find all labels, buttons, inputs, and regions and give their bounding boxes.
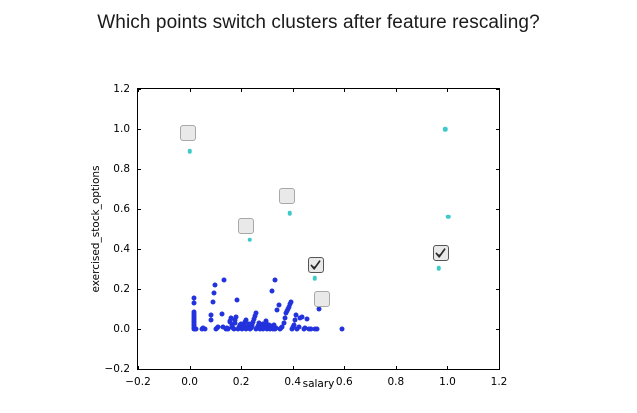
scatter-point	[191, 317, 196, 322]
scatter-point	[294, 313, 299, 318]
scatter-point	[193, 327, 198, 332]
scatter-point	[203, 327, 208, 332]
scatter-point	[279, 326, 284, 331]
scatter-point	[209, 313, 214, 318]
scatter-point	[299, 314, 304, 319]
scatter-point	[219, 312, 224, 317]
x-tick-mark-top	[447, 88, 448, 92]
scatter-point	[316, 307, 321, 312]
scatter-point	[212, 291, 217, 296]
scatter-point	[248, 327, 253, 332]
y-tick-mark-right	[496, 209, 500, 210]
x-tick-mark-top	[396, 88, 397, 92]
scatter-point	[269, 323, 274, 328]
scatter-point	[247, 321, 252, 326]
scatter-point	[239, 327, 244, 332]
x-tick-mark	[447, 366, 448, 370]
y-axis-label: exercised_stock_options	[90, 165, 102, 292]
scatter-point	[259, 323, 264, 328]
y-tick-label: 0.0	[113, 323, 130, 335]
scatter-point	[295, 327, 300, 332]
x-tick-mark-top	[190, 88, 191, 92]
scatter-point	[191, 319, 196, 324]
scatter-point	[252, 314, 257, 319]
scatter-point	[281, 321, 286, 326]
scatter-point	[233, 318, 238, 323]
scatter-point	[270, 327, 275, 332]
scatter-point	[242, 320, 247, 325]
scatter-point	[253, 310, 258, 315]
scatter-point	[191, 296, 196, 301]
scatter-point	[191, 301, 196, 306]
scatter-point	[280, 324, 285, 329]
scatter-point	[270, 289, 275, 294]
scatter-point	[313, 327, 318, 332]
scatter-point	[287, 211, 292, 216]
scatter-point	[212, 283, 217, 288]
y-tick-label: 0.4	[113, 243, 130, 255]
scatter-point	[288, 301, 293, 306]
x-tick-label: 0.0	[181, 376, 198, 388]
y-tick-mark	[137, 329, 141, 330]
scatter-point	[293, 318, 298, 323]
scatter-point	[200, 326, 205, 331]
y-tick-label: 0.2	[113, 283, 130, 295]
scatter-point	[255, 324, 260, 329]
scatter-point	[303, 326, 308, 331]
scatter-point	[223, 326, 228, 331]
x-tick-label: 0.4	[284, 376, 301, 388]
y-tick-label: 1.0	[113, 123, 130, 135]
scatter-point	[238, 323, 243, 328]
scatter-point	[228, 319, 233, 324]
highlight-checkbox-marker[interactable]	[433, 245, 449, 261]
scatter-point	[254, 327, 259, 332]
y-tick-mark	[137, 89, 141, 90]
highlight-square-marker[interactable]	[238, 218, 254, 234]
y-tick-mark-right	[496, 289, 500, 290]
scatter-point	[245, 324, 250, 329]
scatter-point	[286, 307, 291, 312]
scatter-point	[290, 327, 295, 332]
scatter-point	[272, 323, 277, 328]
plot-area: −0.20.00.20.40.60.81.01.2 −0.20.00.20.40…	[137, 88, 500, 370]
scatter-point	[240, 325, 245, 330]
scatter-point	[233, 314, 238, 319]
scatter-point	[262, 323, 267, 328]
scatter-point	[264, 327, 269, 332]
scatter-point	[191, 321, 196, 326]
scatter-point	[221, 278, 226, 283]
scatter-point	[265, 325, 270, 330]
scatter-point	[229, 323, 234, 328]
scatter-point	[249, 324, 254, 329]
scatter-point	[250, 322, 255, 327]
scatter-point	[191, 325, 196, 330]
scatter-point	[248, 325, 253, 330]
scatter-point	[296, 325, 301, 330]
scatter-point	[244, 327, 249, 332]
scatter-point	[260, 321, 265, 326]
scatter-point	[191, 327, 196, 332]
scatter-point	[248, 238, 253, 243]
x-tick-mark	[344, 366, 345, 370]
scatter-point	[257, 321, 262, 326]
x-tick-mark-top	[241, 88, 242, 92]
scatter-point	[275, 308, 280, 313]
x-tick-label: 0.8	[387, 376, 404, 388]
y-tick-label: 0.8	[113, 163, 130, 175]
scatter-point	[256, 322, 261, 327]
scatter-point	[261, 327, 266, 332]
scatter-point	[191, 323, 196, 328]
scatter-point	[298, 316, 303, 321]
scatter-point	[234, 298, 239, 303]
scatter-point	[241, 322, 246, 327]
scatter-point	[251, 320, 256, 325]
y-tick-mark-right	[496, 129, 500, 130]
scatter-point	[191, 309, 196, 314]
scatter-point	[289, 300, 294, 305]
y-tick-mark-right	[496, 89, 500, 90]
scatter-point	[282, 316, 287, 321]
scatter-point	[268, 327, 273, 332]
y-tick-mark-right	[496, 329, 500, 330]
scatter-point	[191, 320, 196, 325]
scatter-point	[210, 300, 215, 305]
y-tick-mark	[137, 129, 141, 130]
scatter-point	[232, 321, 237, 326]
highlight-checkbox-marker[interactable]	[308, 257, 324, 273]
y-tick-mark	[137, 249, 141, 250]
scatter-point	[268, 325, 273, 330]
scatter-point	[245, 326, 250, 331]
scatter-point	[226, 327, 231, 332]
scatter-point	[199, 327, 204, 332]
page-title: Which points switch clusters after featu…	[0, 12, 637, 34]
scatter-point	[191, 315, 196, 320]
x-tick-label: 0.2	[233, 376, 250, 388]
scatter-point	[274, 325, 279, 330]
scatter-point	[312, 276, 317, 281]
y-tick-mark-right	[496, 369, 500, 370]
scatter-point	[264, 318, 269, 323]
highlight-square-marker[interactable]	[314, 291, 330, 307]
scatter-point	[238, 321, 243, 326]
scatter-point	[236, 326, 241, 331]
scatter-point	[243, 318, 248, 323]
scatter-point	[284, 311, 289, 316]
scatter-point	[213, 327, 218, 332]
scatter-point	[292, 323, 297, 328]
x-tick-label: 1.0	[439, 376, 456, 388]
scatter-point	[216, 325, 221, 330]
scatter-point	[224, 325, 229, 330]
highlight-square-marker[interactable]	[180, 125, 196, 141]
scatter-point	[306, 327, 311, 332]
scatter-point	[276, 303, 281, 308]
scatter-point	[304, 316, 309, 321]
scatter-point	[443, 127, 448, 132]
scatter-point	[230, 324, 235, 329]
scatter-point	[436, 266, 441, 271]
x-tick-mark	[190, 366, 191, 370]
y-tick-mark	[137, 209, 141, 210]
scatter-point	[272, 278, 277, 283]
y-tick-mark	[137, 169, 141, 170]
scatter-point	[446, 215, 451, 220]
scatter-point	[308, 326, 313, 331]
scatter-point	[285, 309, 290, 314]
scatter-point	[277, 327, 282, 332]
scatter-point	[301, 327, 306, 332]
scatter-point	[191, 312, 196, 317]
scatter-point	[231, 327, 236, 332]
scatter-figure: exercised_stock_options salary −0.20.00.…	[0, 60, 637, 413]
scatter-point	[339, 327, 344, 332]
scatter-point	[267, 322, 272, 327]
scatter-point	[215, 326, 220, 331]
y-tick-mark	[137, 369, 141, 370]
y-tick-label: −0.2	[105, 363, 131, 375]
scatter-point	[255, 325, 260, 330]
y-tick-label: 0.6	[113, 203, 130, 215]
scatter-point	[241, 324, 246, 329]
scatter-point	[273, 327, 278, 332]
scatter-point	[258, 325, 263, 330]
x-tick-label: −0.2	[125, 376, 151, 388]
scatter-point	[314, 327, 319, 332]
x-tick-mark	[241, 366, 242, 370]
scatter-point	[187, 149, 192, 154]
scatter-point	[287, 304, 292, 309]
x-tick-mark	[293, 366, 294, 370]
y-tick-mark	[137, 289, 141, 290]
scatter-point	[262, 325, 267, 330]
scatter-point	[258, 327, 263, 332]
scatter-point	[235, 327, 240, 332]
y-tick-label: 1.2	[113, 83, 130, 95]
y-tick-mark-right	[496, 169, 500, 170]
scatter-point	[208, 317, 213, 322]
scatter-point	[291, 325, 296, 330]
highlight-square-marker[interactable]	[279, 188, 295, 204]
scatter-point	[246, 323, 251, 328]
scatter-point	[221, 325, 226, 330]
x-tick-label: 0.6	[336, 376, 353, 388]
scatter-point	[252, 317, 257, 322]
scatter-point	[227, 320, 232, 325]
x-tick-label: 1.2	[491, 376, 508, 388]
scatter-point	[271, 325, 276, 330]
y-tick-mark-right	[496, 249, 500, 250]
x-tick-mark	[396, 366, 397, 370]
slide-canvas: Which points switch clusters after featu…	[0, 0, 637, 413]
scatter-point	[228, 316, 233, 321]
scatter-point	[192, 327, 197, 332]
scatter-point	[263, 321, 268, 326]
scatter-point	[237, 325, 242, 330]
x-tick-mark-top	[293, 88, 294, 92]
x-tick-mark-top	[344, 88, 345, 92]
scatter-point	[231, 325, 236, 330]
scatter-point	[191, 324, 196, 329]
scatter-point	[266, 324, 271, 329]
scatter-point	[191, 314, 196, 319]
